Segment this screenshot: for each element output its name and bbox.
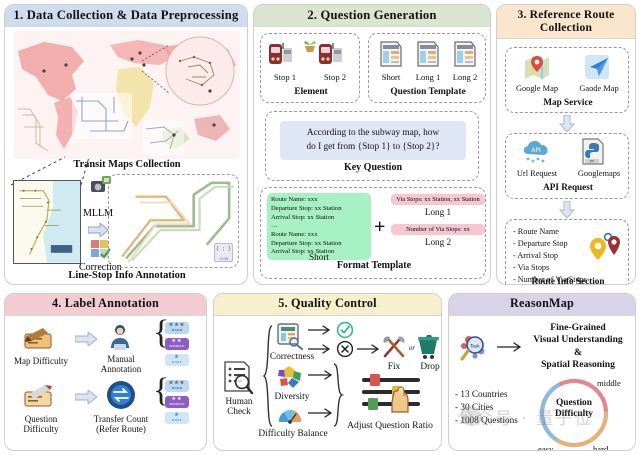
headline-line2: Visual Understanding bbox=[521, 334, 635, 346]
puzzle-icon bbox=[276, 364, 304, 390]
question-template-label-2: Long 2 bbox=[443, 72, 487, 82]
transfer-icon bbox=[106, 380, 136, 410]
map-pen-icon bbox=[21, 326, 57, 352]
badge-easy: ★EASY bbox=[165, 412, 189, 424]
panel3-header: 3. Reference Route Collection bbox=[497, 5, 635, 39]
arrow-down-icon bbox=[559, 201, 575, 218]
gauge-icon bbox=[276, 402, 304, 426]
panel2-header: 2. Question Generation bbox=[254, 5, 490, 27]
map-service-label-0: Google Map bbox=[506, 84, 568, 93]
adjust-question-ratio-label: Adjust Question Ratio bbox=[338, 420, 442, 431]
map-service-caption: Map Service bbox=[506, 97, 630, 107]
badge-easy: ★EASY bbox=[165, 354, 189, 366]
format-template-caption: Format Template bbox=[261, 260, 487, 271]
human-check-label-line2: Check bbox=[214, 406, 264, 416]
arrow-down-icon bbox=[559, 115, 575, 132]
arrow-right-icon bbox=[497, 342, 523, 352]
panel-quality-control: 5. Quality Control Human Check bbox=[213, 293, 442, 451]
svg-text:API: API bbox=[531, 147, 541, 154]
format-long2-block: Number of Via Stops: xx bbox=[391, 224, 485, 235]
manual-annotation-label-line1: Manual bbox=[93, 354, 149, 364]
train-icon bbox=[317, 40, 347, 70]
headline-line1: Fine-Grained bbox=[521, 322, 635, 334]
badge-hard: ★★★HARD bbox=[165, 322, 189, 334]
arrow-right-icon bbox=[308, 344, 332, 354]
arrow-right-icon bbox=[308, 408, 334, 418]
document-icon bbox=[453, 40, 477, 68]
element-item-label-0: Stop 1 bbox=[261, 72, 309, 82]
plus-symbol: + bbox=[374, 216, 385, 239]
arrow-right-icon bbox=[308, 325, 332, 335]
question-pen-icon bbox=[21, 384, 57, 410]
drop-label: Drop bbox=[410, 362, 442, 372]
badge-hard: ★★★HARD bbox=[165, 380, 189, 392]
transfer-count-label-line1: Transfer Count bbox=[83, 414, 159, 424]
extracted-route-lines-box: { ; }JSON bbox=[108, 174, 239, 268]
route-info-caption: Route Info Section bbox=[506, 276, 630, 285]
arrow-right-icon bbox=[308, 370, 334, 380]
manual-annotation-label-line2: Annotation bbox=[91, 364, 151, 374]
mllm-arrow-icon bbox=[88, 223, 108, 237]
location-pins-icon bbox=[584, 232, 622, 262]
map-difficulty-label: Map Difficulty bbox=[5, 356, 77, 366]
gaode-navigation-icon bbox=[582, 53, 612, 81]
google-map-pin-icon bbox=[522, 53, 552, 81]
check-circle-icon bbox=[336, 321, 354, 339]
panel-data-collection: 1. Data Collection & Data Preprocessing bbox=[4, 4, 248, 285]
badge-middle: ★★MIDDLE bbox=[165, 396, 189, 408]
element-box: Stop 1 Stop 2 Element bbox=[260, 33, 360, 103]
document-icon bbox=[379, 40, 403, 68]
route-info-box: - Route Name - Departure Stop - Arrival … bbox=[505, 219, 629, 285]
tools-icon bbox=[381, 334, 407, 360]
element-caption: Element bbox=[261, 87, 361, 97]
key-question-text: According to the subway map, how do I ge… bbox=[280, 121, 466, 160]
api-request-caption: API Request bbox=[506, 182, 630, 192]
world-transit-map-image bbox=[14, 31, 240, 159]
trash-cart-icon bbox=[417, 334, 441, 360]
arrow-right-icon bbox=[75, 390, 97, 404]
question-template-caption: Question Template bbox=[369, 87, 487, 97]
criteria-brace-icon bbox=[262, 324, 274, 428]
checklist-key-icon bbox=[276, 322, 304, 350]
diversity-label: Diversity bbox=[260, 392, 324, 402]
cross-circle-icon bbox=[336, 340, 354, 358]
panel1-caption-maps: Transit Maps Collection bbox=[5, 159, 248, 170]
api-request-label-1: Googlemaps bbox=[568, 169, 630, 178]
panel1-caption-annotation: Line-Stop Info Annotation bbox=[5, 270, 248, 281]
transfer-count-label-line2: (Refer Route) bbox=[83, 424, 159, 434]
panel-label-annotation: 4. Label Annotation Map Difficulty bbox=[4, 293, 207, 451]
headline-line4: Spatial Reasoning bbox=[521, 359, 635, 371]
json-icon: { ; }JSON bbox=[214, 243, 233, 262]
question-template-box: Short Long 1 Long 2 Question Template bbox=[368, 33, 486, 103]
svg-text:Task: Task bbox=[469, 343, 480, 349]
question-difficulty-label-line2: Difficulty bbox=[5, 424, 77, 434]
python-file-icon: PY bbox=[580, 138, 606, 166]
route-info-item-1: - Departure Stop bbox=[513, 238, 587, 250]
arrow-right-icon bbox=[357, 344, 381, 354]
route-info-item-2: - Arrival Stop bbox=[513, 250, 587, 262]
plant-icon bbox=[301, 36, 319, 54]
format-template-box: Route Name: xxx Departure Stop: xx Stati… bbox=[260, 187, 486, 279]
fix-label: Fix bbox=[374, 362, 414, 372]
format-short-block: Route Name: xxx Departure Stop: xx Stati… bbox=[267, 193, 371, 260]
badge-middle: ★★MIDDLE bbox=[165, 338, 189, 350]
api-request-box: API PY Url R bbox=[505, 133, 629, 199]
format-long1-label: Long 1 bbox=[391, 207, 485, 217]
single-transit-map-thumbnail bbox=[13, 180, 81, 264]
sliders-hand-icon bbox=[356, 372, 428, 416]
format-long2-label: Long 2 bbox=[391, 237, 485, 247]
api-request-label-0: Url Request bbox=[506, 169, 568, 178]
human-check-label-line1: Human bbox=[214, 396, 264, 406]
panel6-header: ReasonMap bbox=[449, 294, 635, 316]
difficulty-balance-label: Difficulty Balance bbox=[238, 429, 348, 439]
panel1-header: 1. Data Collection & Data Preprocessing bbox=[5, 5, 247, 27]
arrow-right-icon bbox=[75, 332, 97, 346]
headline-line3: & bbox=[521, 347, 635, 359]
train-icon bbox=[267, 40, 297, 70]
panel5-header: 5. Quality Control bbox=[214, 294, 441, 316]
outcome-brace-icon bbox=[332, 362, 344, 428]
panel-reference-route-collection: 3. Reference Route Collection bbox=[496, 4, 636, 285]
key-question-line1: According to the subway map, how bbox=[307, 128, 439, 138]
map-service-box: Google Map Gaode Map Map Service bbox=[505, 47, 629, 113]
key-question-caption: Key Question bbox=[266, 162, 480, 173]
panel-question-generation: 2. Question Generation bbox=[253, 4, 491, 285]
donut-label-middle: middle bbox=[597, 378, 621, 388]
map-service-label-1: Gaode Map bbox=[568, 84, 630, 93]
format-long1-block: Via Stops: xx Station, xx Station bbox=[391, 194, 485, 205]
donut-label-easy: easy bbox=[538, 444, 553, 451]
key-question-line2: do I get from {Stop 1} to {Stop 2}? bbox=[306, 142, 439, 152]
annotator-person-icon bbox=[105, 322, 135, 352]
document-magnifier-icon bbox=[222, 360, 254, 394]
document-icon bbox=[416, 40, 440, 68]
question-difficulty-label-line1: Question bbox=[5, 414, 77, 424]
figure-root: 1. Data Collection & Data Preprocessing bbox=[0, 0, 640, 455]
key-question-box: According to the subway map, how do I ge… bbox=[265, 111, 479, 181]
route-info-item-0: - Route Name bbox=[513, 226, 587, 238]
donut-label-hard: hard bbox=[593, 444, 608, 451]
api-cloud-icon: API bbox=[520, 138, 552, 166]
route-info-item-3: - Via Stops bbox=[513, 262, 587, 274]
panel4-header: 4. Label Annotation bbox=[5, 294, 206, 316]
task-magnifier-icon: Task bbox=[459, 332, 493, 364]
watermark-text: 公众号 · 量子位 bbox=[457, 404, 637, 434]
element-item-label-1: Stop 2 bbox=[311, 72, 359, 82]
headline-text: Fine-Grained Visual Understanding & Spat… bbox=[521, 322, 635, 372]
